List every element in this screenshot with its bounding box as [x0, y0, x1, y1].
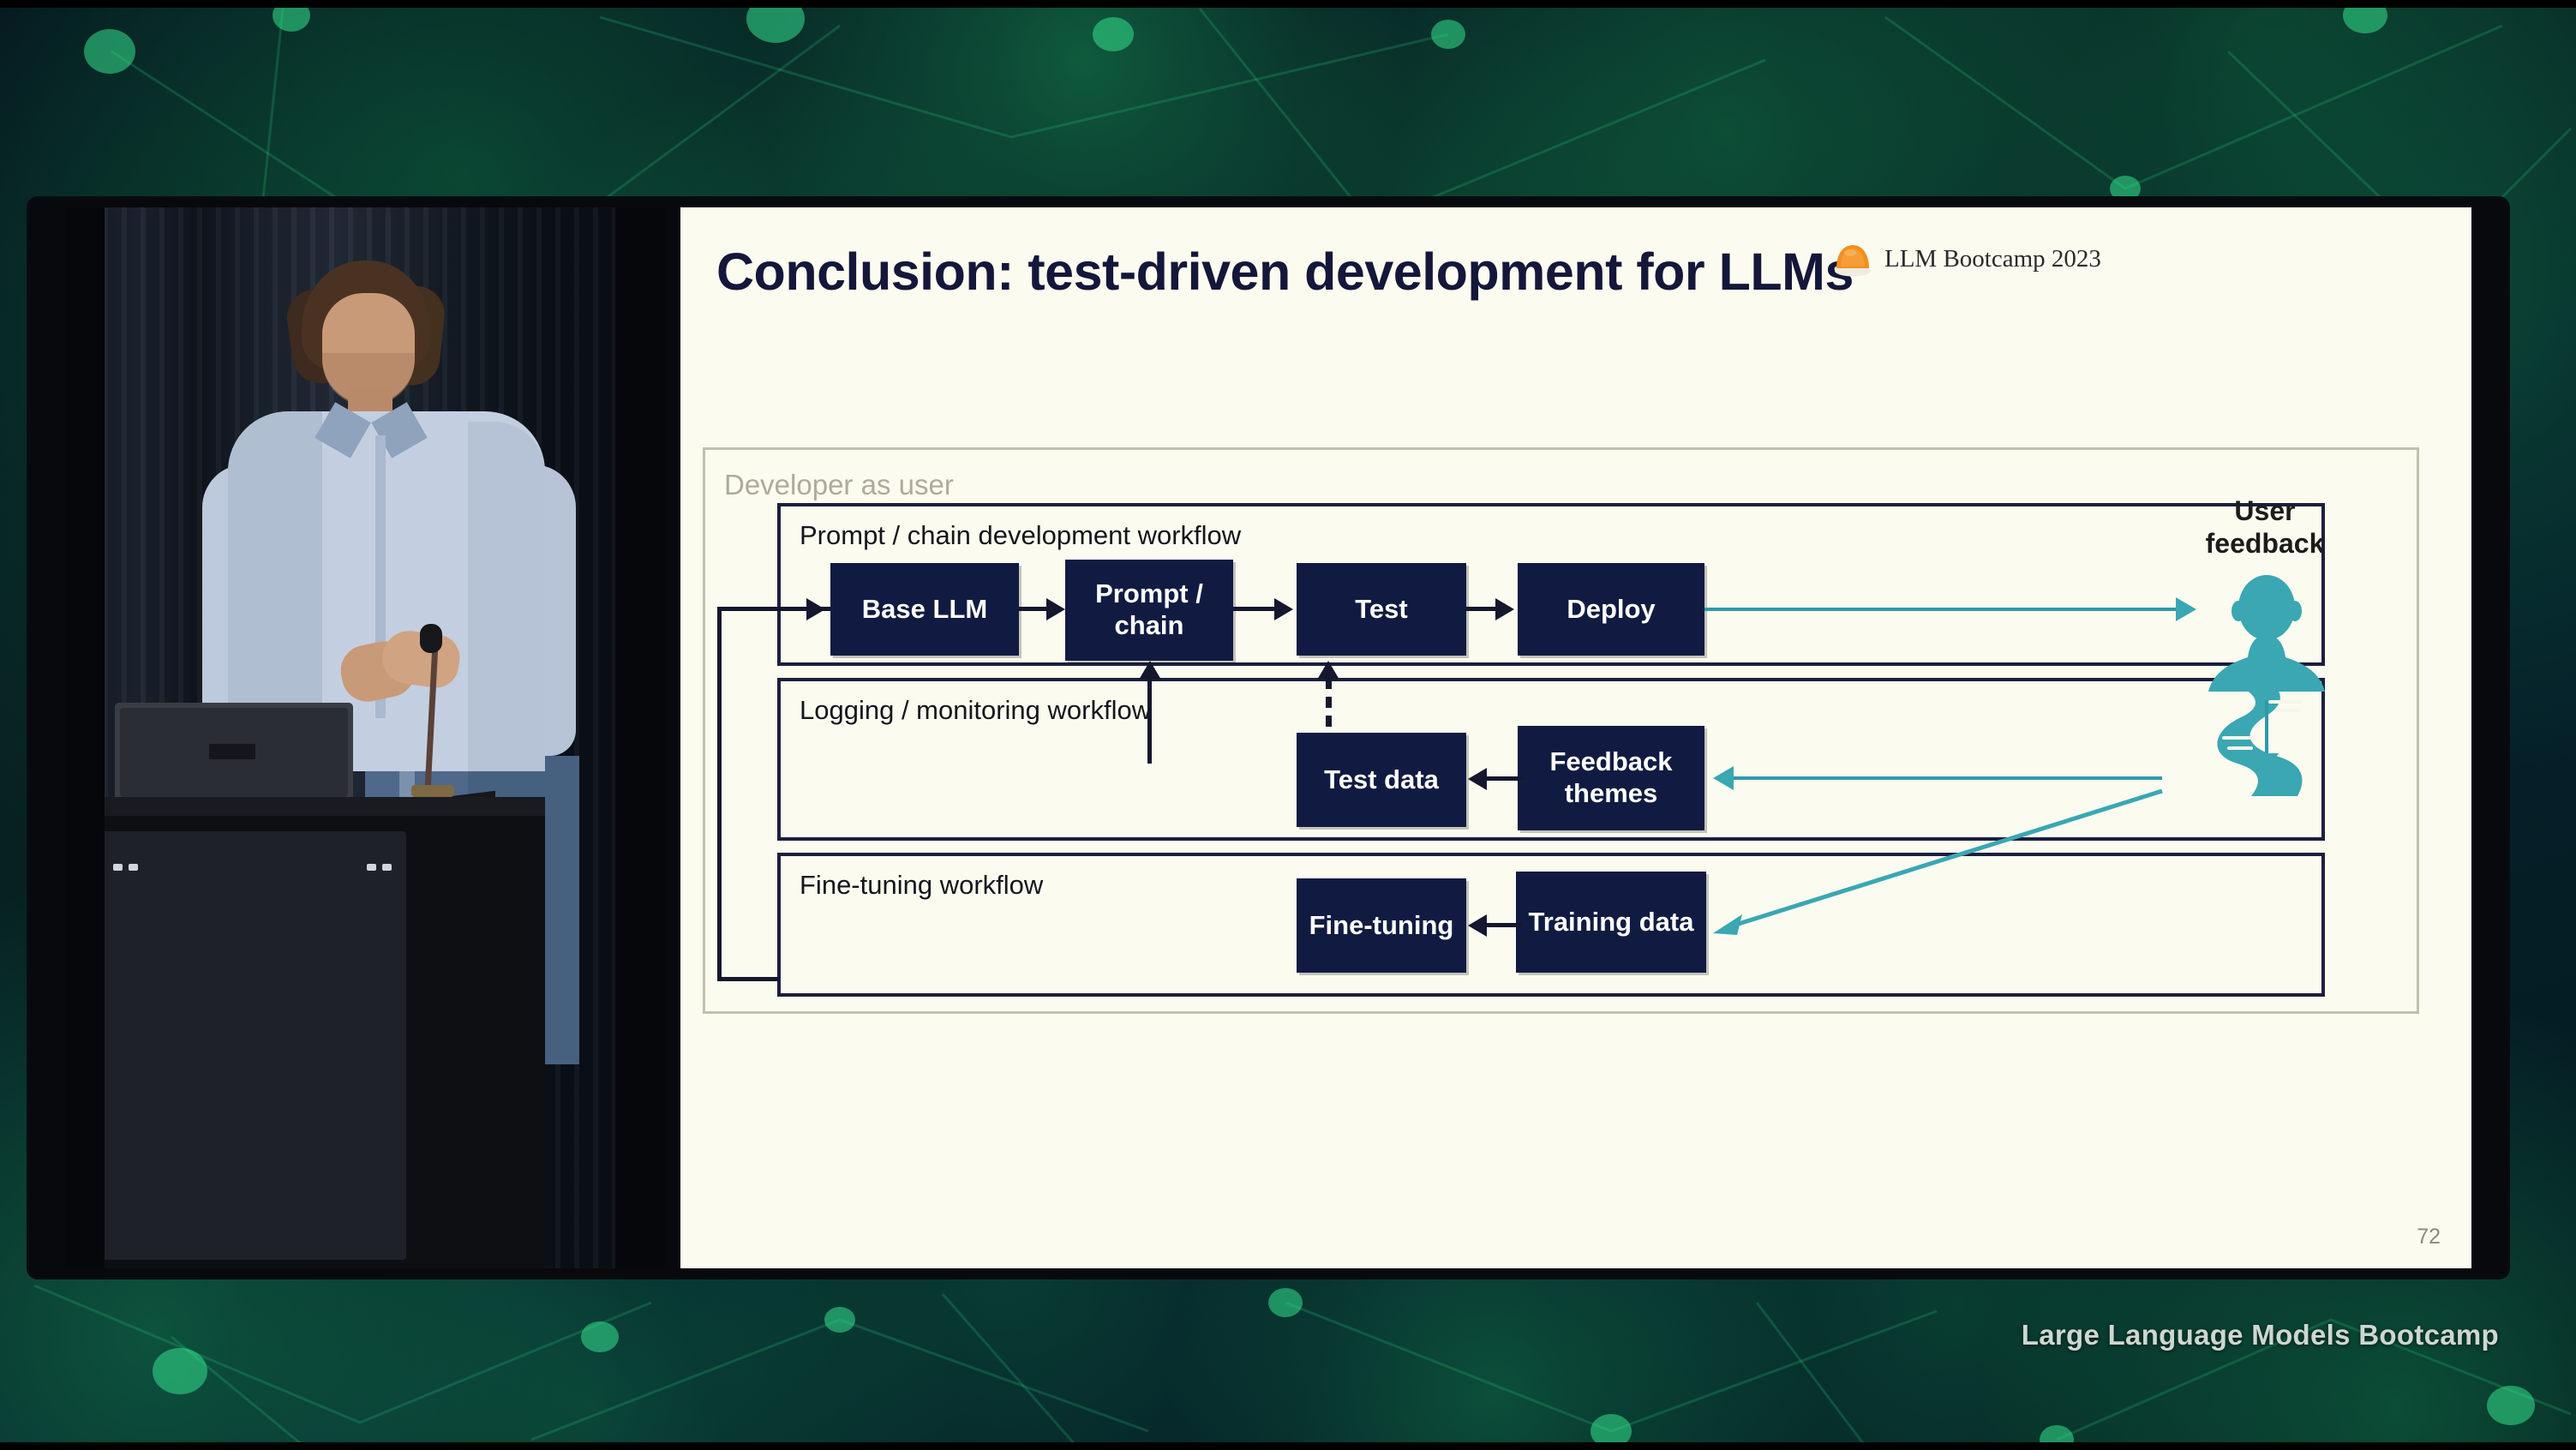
prompt-chain-workflow-label: Prompt / chain development workflow: [800, 520, 1241, 551]
node-base-llm-label: Base LLM: [862, 594, 987, 626]
logging-monitoring-workflow-label: Logging / monitoring workflow: [800, 695, 1151, 726]
bootcamp-logo-text: LLM Bootcamp 2023: [1884, 245, 2101, 273]
node-test[interactable]: Test: [1297, 563, 1466, 656]
bootcamp-footer-text: Large Language Models Bootcamp: [2022, 1319, 2499, 1351]
podium-indicator-light: [367, 864, 376, 871]
node-deploy[interactable]: Deploy: [1518, 563, 1704, 656]
arrow-testdata-to-test-dotted: [1326, 678, 1332, 740]
arrow-training-to-finetuning-head: [1468, 914, 1487, 937]
node-feedback-themes[interactable]: Feedback themes: [1518, 726, 1704, 830]
user-feedback-label: User feedback: [2166, 494, 2363, 560]
node-test-data[interactable]: Test data: [1297, 733, 1466, 827]
arrow-logging-to-prompt-line: [1147, 680, 1152, 764]
slide-title: Conclusion: test-driven development for …: [716, 242, 1854, 302]
node-prompt-chain[interactable]: Prompt / chain: [1065, 560, 1233, 661]
loop-return-vertical: [717, 607, 722, 981]
data-stream-river-icon: [2207, 671, 2332, 800]
arrow-test-to-deploy-head: [1495, 598, 1514, 620]
video-pillarbox-left: [65, 207, 105, 1268]
node-base-llm[interactable]: Base LLM: [830, 563, 1019, 656]
bootcamp-dome-logo-icon: [1833, 240, 1872, 278]
teal-arrow-user-to-river-line: [2265, 700, 2268, 758]
loop-return-bottom: [717, 977, 779, 981]
developer-as-user-label: Developer as user: [724, 469, 954, 501]
arrow-test-to-deploy-line: [1466, 607, 1499, 611]
node-deploy-label: Deploy: [1567, 594, 1655, 626]
presentation-stage: Conclusion: test-driven development for …: [29, 199, 2507, 1277]
teal-arrow-deploy-to-user-line: [1704, 608, 2183, 611]
arrow-base-to-prompt-head: [1046, 598, 1065, 620]
microphone-capsule: [420, 624, 442, 653]
arrow-prompt-to-test-head: [1274, 598, 1293, 620]
arrow-logging-to-prompt-head: [1139, 661, 1161, 680]
bootcamp-branding: LLM Bootcamp 2023: [1833, 240, 2101, 278]
teal-arrow-deploy-to-user-head: [2176, 597, 2196, 621]
node-test-label: Test: [1355, 594, 1407, 626]
slide-page-number: 72: [2417, 1225, 2441, 1249]
teal-arrow-river-to-feedback-line: [1734, 776, 2162, 780]
slide-canvas: Conclusion: test-driven development for …: [680, 207, 2471, 1268]
node-prompt-chain-label-1: Prompt /: [1095, 578, 1203, 610]
node-feedback-themes-label-2: themes: [1565, 778, 1658, 810]
podium-indicator-light: [382, 864, 392, 871]
node-fine-tuning[interactable]: Fine-tuning: [1297, 878, 1466, 973]
node-test-data-label: Test data: [1324, 764, 1439, 796]
node-training-data[interactable]: Training data: [1516, 872, 1706, 973]
teal-arrow-river-to-training-data: [1682, 786, 2196, 949]
teal-arrow-user-to-river-head: [2255, 753, 2279, 772]
podium-indicator-light: [129, 864, 138, 871]
speaker-shirt-shadow-right: [468, 422, 545, 771]
arrow-prompt-to-test-line: [1233, 607, 1278, 611]
node-training-data-label: Training data: [1529, 907, 1694, 938]
arrow-training-to-finetuning-line: [1487, 923, 1523, 927]
microphone-base: [411, 785, 454, 797]
letterbox-bottom: [0, 1442, 2576, 1450]
arrow-feedback-to-testdata-line: [1487, 776, 1525, 781]
arrow-testdata-to-test-head: [1317, 661, 1339, 680]
video-pillarbox-right: [615, 207, 665, 1268]
user-feedback-label-2: feedback: [2206, 528, 2325, 559]
developer-as-user-container: Developer as user Prompt / chain develop…: [703, 447, 2419, 1014]
loop-return-head: [806, 598, 825, 620]
user-feedback-label-1: User: [2234, 495, 2295, 526]
fine-tuning-workflow-label: Fine-tuning workflow: [800, 870, 1043, 901]
speaker-video-panel[interactable]: [65, 207, 665, 1268]
podium-top-edge: [65, 797, 545, 816]
letterbox-top: [0, 0, 2576, 8]
node-fine-tuning-label: Fine-tuning: [1309, 910, 1454, 942]
laptop-logo-badge: [209, 744, 255, 759]
arrow-feedback-to-testdata-head: [1468, 768, 1487, 790]
node-prompt-chain-label-2: chain: [1115, 610, 1184, 642]
node-feedback-themes-label-1: Feedback: [1549, 746, 1672, 778]
arrow-base-to-prompt-line: [1019, 607, 1050, 611]
podium-indicator-light: [113, 864, 123, 871]
podium-front-panel: [89, 831, 406, 1260]
